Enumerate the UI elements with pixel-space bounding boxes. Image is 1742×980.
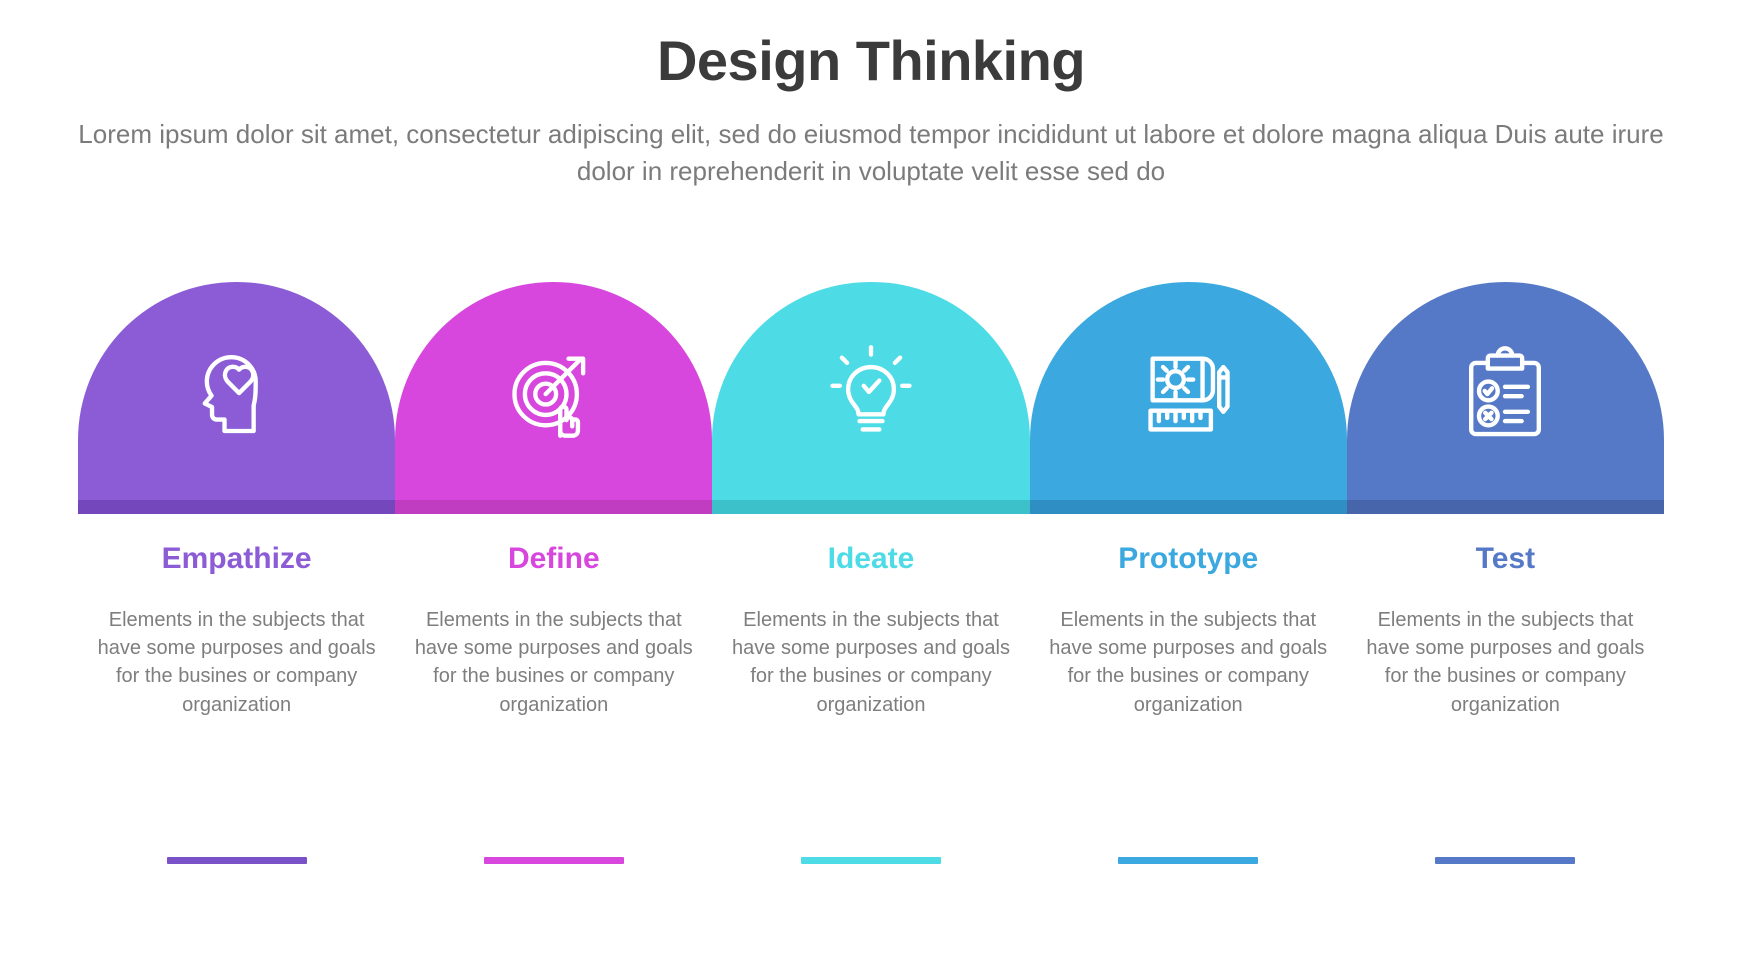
underline-bar bbox=[1435, 857, 1575, 864]
step-description-prototype: Elements in the subjects that have some … bbox=[1038, 606, 1339, 720]
page-subtitle: Lorem ipsum dolor sit amet, consectetur … bbox=[61, 116, 1681, 190]
step-title-empathize: Empathize bbox=[86, 540, 387, 578]
text-columns: Empathize Elements in the subjects that … bbox=[78, 540, 1664, 719]
column-test: Test Elements in the subjects that have … bbox=[1347, 540, 1664, 719]
step-title-ideate: Ideate bbox=[720, 540, 1021, 578]
underline-cell-ideate bbox=[712, 857, 1029, 864]
underline-bar bbox=[484, 857, 624, 864]
blueprint-gear-pencil-ruler-icon bbox=[1030, 340, 1347, 444]
step-description-empathize: Elements in the subjects that have some … bbox=[86, 606, 387, 720]
underline-bar bbox=[167, 857, 307, 864]
arch-define[interactable] bbox=[395, 282, 712, 514]
infographic-page: Design Thinking Lorem ipsum dolor sit am… bbox=[0, 0, 1742, 980]
underline-cell-empathize bbox=[78, 857, 395, 864]
arch-test[interactable] bbox=[1347, 282, 1664, 514]
head-heart-icon bbox=[78, 340, 395, 444]
arch-ideate[interactable] bbox=[712, 282, 1029, 514]
page-title: Design Thinking bbox=[0, 28, 1742, 94]
underline-cell-test bbox=[1347, 857, 1664, 864]
arch-empathize[interactable] bbox=[78, 282, 395, 514]
arch-foot bbox=[1030, 500, 1347, 514]
underline-row bbox=[78, 857, 1664, 864]
step-title-test: Test bbox=[1355, 540, 1656, 578]
column-prototype: Prototype Elements in the subjects that … bbox=[1030, 540, 1347, 719]
underline-bar bbox=[801, 857, 941, 864]
underline-cell-prototype bbox=[1030, 857, 1347, 864]
header: Design Thinking Lorem ipsum dolor sit am… bbox=[0, 28, 1742, 190]
column-define: Define Elements in the subjects that hav… bbox=[395, 540, 712, 719]
arch-row bbox=[78, 282, 1664, 514]
arch-foot bbox=[395, 500, 712, 514]
column-ideate: Ideate Elements in the subjects that hav… bbox=[712, 540, 1029, 719]
arch-foot bbox=[78, 500, 395, 514]
arch-prototype[interactable] bbox=[1030, 282, 1347, 514]
underline-cell-define bbox=[395, 857, 712, 864]
arch-foot bbox=[712, 500, 1029, 514]
clipboard-checklist-icon bbox=[1347, 340, 1664, 444]
column-empathize: Empathize Elements in the subjects that … bbox=[78, 540, 395, 719]
step-description-test: Elements in the subjects that have some … bbox=[1355, 606, 1656, 720]
step-title-prototype: Prototype bbox=[1038, 540, 1339, 578]
target-arrow-hand-icon bbox=[395, 340, 712, 444]
arch-foot bbox=[1347, 500, 1664, 514]
step-description-define: Elements in the subjects that have some … bbox=[403, 606, 704, 720]
step-description-ideate: Elements in the subjects that have some … bbox=[720, 606, 1021, 720]
step-title-define: Define bbox=[403, 540, 704, 578]
underline-bar bbox=[1118, 857, 1258, 864]
lightbulb-check-icon bbox=[712, 340, 1029, 444]
